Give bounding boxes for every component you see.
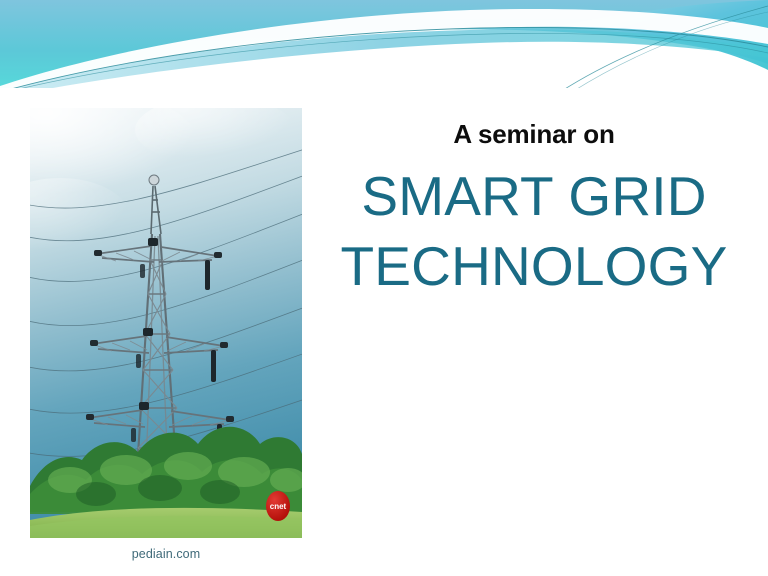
transmission-tower-photo: cnet <box>30 108 302 538</box>
main-title-line-2: TECHNOLOGY <box>310 231 758 301</box>
source-caption: pediain.com <box>30 547 302 561</box>
presentation-slide: cnet pediain.com A seminar on SMART GRID… <box>0 0 768 576</box>
main-title-line-1: SMART GRID <box>361 165 706 227</box>
transmission-tower-photo-graphic: cnet <box>30 108 302 538</box>
wave-banner-graphic <box>0 0 768 92</box>
svg-text:cnet: cnet <box>270 502 287 511</box>
wave-base <box>0 88 768 92</box>
cnet-watermark: cnet <box>266 491 290 521</box>
title-block: A seminar on SMART GRID TECHNOLOGY <box>310 118 758 301</box>
pretitle-text: A seminar on <box>310 118 758 151</box>
main-title: SMART GRID TECHNOLOGY <box>310 161 758 302</box>
photo-tower-beacon <box>149 175 159 185</box>
wave-banner <box>0 0 768 92</box>
